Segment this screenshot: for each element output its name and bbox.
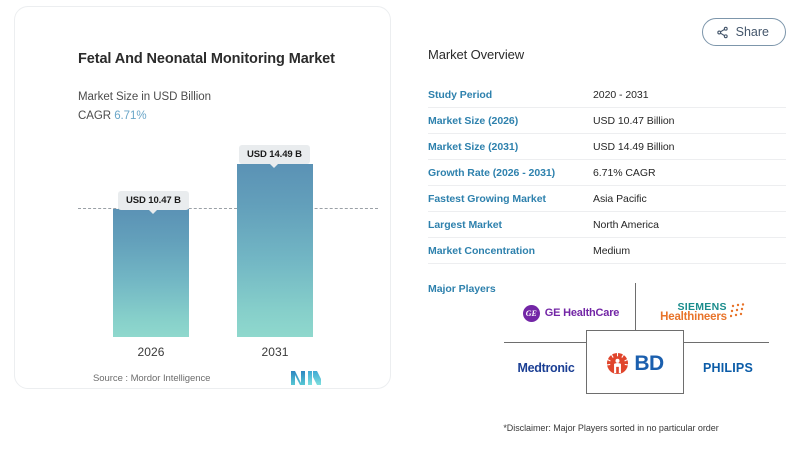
medtronic-logo: Medtronic bbox=[504, 353, 588, 383]
share-button[interactable]: Share bbox=[702, 18, 786, 46]
row-label: Fastest Growing Market bbox=[428, 193, 593, 205]
siemens-dots-icon bbox=[730, 303, 746, 323]
market-overview-title: Market Overview bbox=[428, 47, 524, 62]
table-row: Growth Rate (2026 - 2031) 6.71% CAGR bbox=[428, 160, 786, 186]
row-value: 2020 - 2031 bbox=[593, 89, 786, 101]
row-value: Medium bbox=[593, 245, 786, 257]
row-label: Study Period bbox=[428, 89, 593, 101]
siemens-healthineers-logo: SIEMENS Healthineers bbox=[643, 293, 763, 333]
healthineers-label: Healthineers bbox=[660, 312, 727, 324]
philips-logo: PHILIPS bbox=[686, 353, 770, 383]
philips-label: PHILIPS bbox=[703, 361, 753, 375]
grid-horizontal-divider-left bbox=[504, 342, 590, 343]
bar-2031[interactable] bbox=[237, 164, 313, 337]
bd-sunburst-icon bbox=[606, 352, 629, 375]
bd-logo: BD bbox=[588, 345, 682, 381]
row-value: USD 10.47 Billion bbox=[593, 115, 786, 127]
ge-healthcare-label: GE HealthCare bbox=[545, 307, 619, 319]
row-label: Market Size (2026) bbox=[428, 115, 593, 127]
overview-panel: Share Market Overview Study Period 2020 … bbox=[410, 0, 800, 459]
table-row: Study Period 2020 - 2031 bbox=[428, 82, 786, 108]
bar-2031-value-label: USD 14.49 B bbox=[239, 145, 310, 164]
major-players-title: Major Players bbox=[428, 283, 496, 295]
row-value: 6.71% CAGR bbox=[593, 167, 786, 179]
bar-2026-fill bbox=[113, 209, 189, 337]
x-axis-tick-2026: 2026 bbox=[113, 345, 189, 359]
row-label: Growth Rate (2026 - 2031) bbox=[428, 167, 593, 179]
row-label: Largest Market bbox=[428, 219, 593, 231]
major-players-logo-grid: GE GE HealthCare SIEMENS Healthineers bbox=[504, 283, 769, 395]
row-value: North America bbox=[593, 219, 786, 231]
grid-horizontal-divider-right bbox=[684, 342, 769, 343]
share-button-label: Share bbox=[736, 25, 769, 39]
bar-2026-value-label: USD 10.47 B bbox=[118, 191, 189, 210]
row-label: Market Size (2031) bbox=[428, 141, 593, 153]
players-disclaimer: *Disclaimer: Major Players sorted in no … bbox=[426, 423, 796, 433]
ge-healthcare-logo: GE GE HealthCare bbox=[511, 295, 631, 331]
bar-2026[interactable] bbox=[113, 209, 189, 337]
table-row: Fastest Growing Market Asia Pacific bbox=[428, 186, 786, 212]
row-value: USD 14.49 Billion bbox=[593, 141, 786, 153]
x-axis-tick-2031: 2031 bbox=[237, 345, 313, 359]
mordor-intelligence-logo bbox=[291, 370, 321, 386]
bd-label: BD bbox=[634, 353, 663, 374]
bar-chart-plot: USD 10.47 B USD 14.49 B 2026 2031 bbox=[15, 7, 392, 390]
row-value: Asia Pacific bbox=[593, 193, 786, 205]
row-label: Market Concentration bbox=[428, 245, 593, 257]
share-nodes-icon bbox=[716, 26, 729, 39]
medtronic-label: Medtronic bbox=[517, 361, 574, 375]
table-row: Market Concentration Medium bbox=[428, 238, 786, 264]
report-snapshot: Fetal And Neonatal Monitoring Market Mar… bbox=[0, 0, 800, 459]
table-row: Market Size (2031) USD 14.49 Billion bbox=[428, 134, 786, 160]
market-overview-table: Study Period 2020 - 2031 Market Size (20… bbox=[428, 82, 786, 264]
bar-2031-fill bbox=[237, 164, 313, 337]
table-row: Largest Market North America bbox=[428, 212, 786, 238]
chart-card: Fetal And Neonatal Monitoring Market Mar… bbox=[14, 6, 391, 389]
ge-monogram-icon: GE bbox=[523, 305, 540, 322]
table-row: Market Size (2026) USD 10.47 Billion bbox=[428, 108, 786, 134]
source-label: Source : Mordor Intelligence bbox=[93, 373, 210, 384]
